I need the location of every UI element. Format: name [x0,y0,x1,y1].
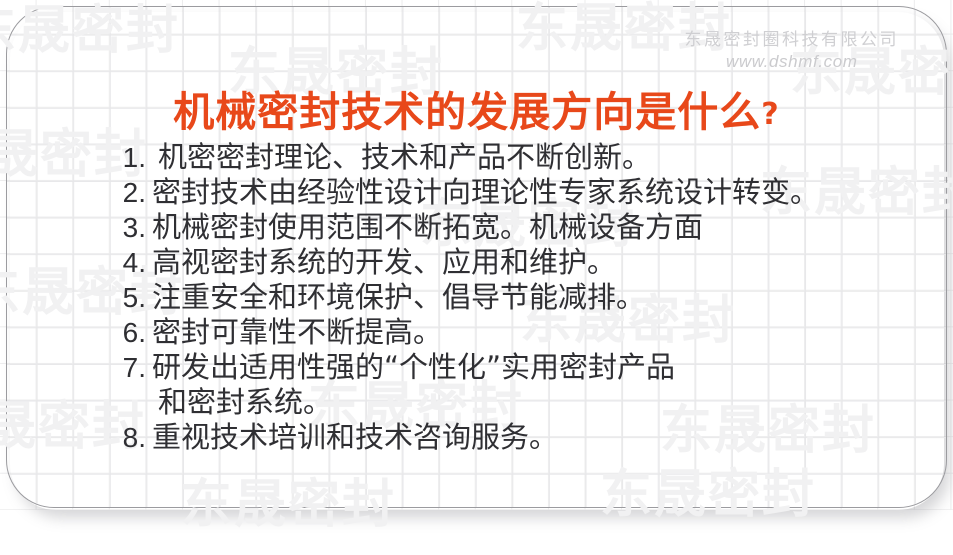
list-item: 4. 高视密封系统的开发、应用和维护。 [108,245,908,280]
list-item: 3. 机械密封使用范围不断拓宽。机械设备方面 [108,210,908,245]
slide-canvas: 东晟密封 东晟密封 东晟密封 东晟密封 东晟密封 东晟密封 东晟密封 东晟密封 … [0,0,953,555]
list-item-label: 高视密封系统的开发、应用和维护。 [152,245,616,280]
list-item-number: 3. [108,210,146,245]
list-item-label: 重视技术培训和技术咨询服务。 [152,420,558,455]
list-item-number: 8. [108,420,146,455]
list-item-label: 密封技术由经验性设计向理论性专家系统设计转变。 [152,175,819,210]
list-item: 1. 机密密封理论、技术和产品不断创新。 [108,140,908,175]
list-item-label: 研发出适用性强的“个性化”实用密封产品 [152,350,675,385]
page-title: 机械密封技术的发展方向是什么? [0,78,953,138]
list-item-number: 5. [108,280,146,315]
list-item-number: 7. [108,350,146,385]
list-item-label: 密封可靠性不断提高。 [152,315,442,350]
list-item: 2. 密封技术由经验性设计向理论性专家系统设计转变。 [108,175,908,210]
list-item-number: 2. [108,175,146,210]
list-item-number: 4. [108,245,146,280]
watermark-text: 东晟密封 [0,0,180,63]
list-item-label: 机械密封使用范围不断拓宽。机械设备方面 [152,210,703,245]
list-item: 5. 注重安全和环境保护、倡导节能减排。 [108,280,908,315]
list-item: 8. 重视技术培训和技术咨询服务。 [108,420,908,455]
watermark-text: 东晟密封 [180,462,396,537]
company-info: 东晟密封圈科技有限公司 www.dshmf.com [685,30,900,73]
list-item-label: 机密密封理论、技术和产品不断创新。 [158,140,651,175]
list-item-number: 1. [108,140,146,175]
watermark-text: 东晟密封 [600,452,816,527]
page-title-question-mark: ? [761,97,779,132]
list-item: 6. 密封可靠性不断提高。 [108,315,908,350]
content-list: 1. 机密密封理论、技术和产品不断创新。 2. 密封技术由经验性设计向理论性专家… [108,140,908,455]
company-name: 东晟密封圈科技有限公司 [685,30,900,51]
page-title-text: 机械密封技术的发展方向是什么 [173,88,761,136]
company-url: www.dshmf.com [685,51,900,72]
list-item-label: 和密封系统。 [158,385,332,420]
list-item-label: 注重安全和环境保护、倡导节能减排。 [152,280,645,315]
list-item-number: 6. [108,315,146,350]
list-item: 7. 研发出适用性强的“个性化”实用密封产品 [108,350,908,385]
list-item-continuation: 和密封系统。 [108,385,908,420]
